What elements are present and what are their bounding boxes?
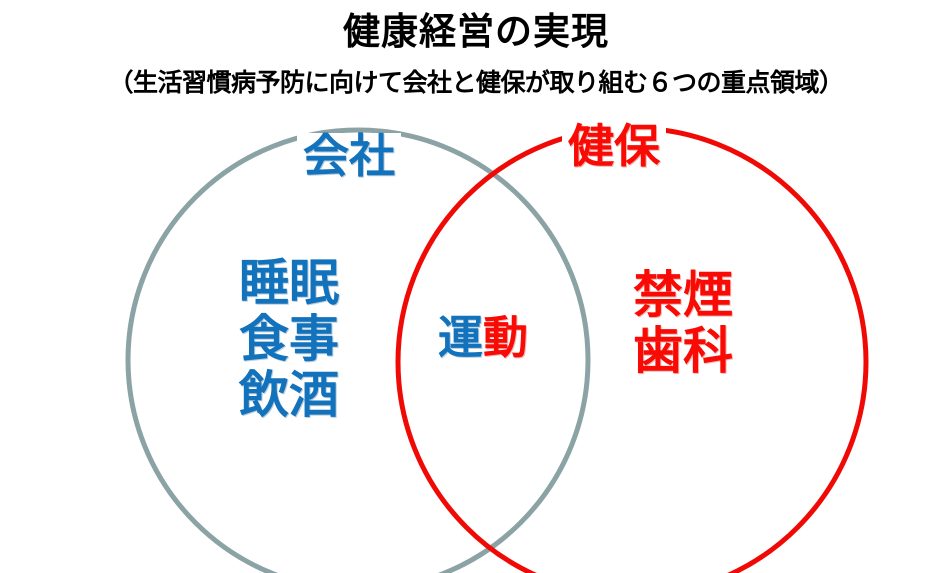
overlap-focus-item-exercise-part1: 運 — [438, 312, 483, 363]
kenpo-focus-areas: 禁煙 歯科 — [633, 267, 733, 379]
company-focus-item-diet: 食事 — [239, 311, 339, 367]
overlap-focus-item-exercise-part2: 動 — [483, 312, 528, 363]
kenpo-focus-item-dental: 歯科 — [633, 323, 733, 379]
company-focus-item-drinking: 飲酒 — [239, 367, 339, 423]
kenpo-circle-label: 健保 — [562, 123, 666, 169]
company-focus-areas: 睡眠 食事 飲酒 — [239, 255, 339, 423]
company-circle-label: 会社 — [297, 133, 401, 179]
kenpo-focus-item-nonsmoking: 禁煙 — [633, 267, 733, 323]
venn-diagram — [0, 0, 952, 573]
overlap-focus-areas: 運動 — [438, 313, 528, 363]
slide-canvas: 健康経営の実現 （生活習慣病予防に向けて会社と健保が取り組む６つの重点領域） 会… — [0, 0, 952, 573]
company-focus-item-sleep: 睡眠 — [239, 255, 339, 311]
